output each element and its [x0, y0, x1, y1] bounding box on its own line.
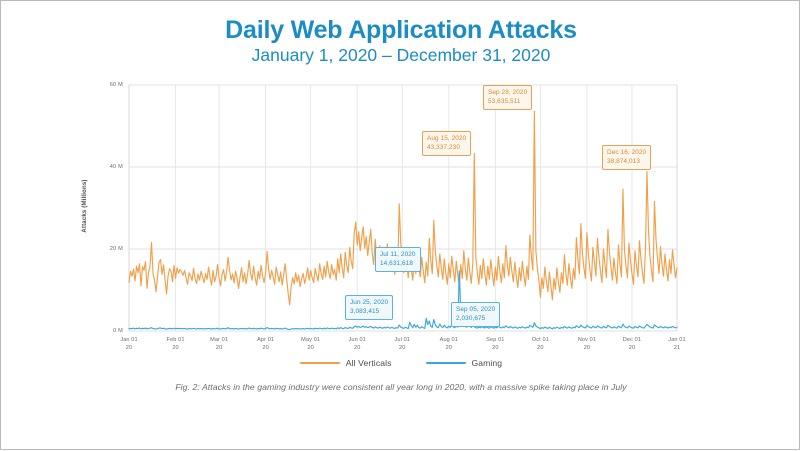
legend-swatch-icon: [426, 362, 466, 365]
x-tick-label: Sep 0120: [475, 336, 515, 352]
y-axis-title: Attacks (Millions): [82, 179, 88, 232]
x-tick-label: Jan 0120: [109, 336, 149, 352]
y-tick-label: 60 M: [97, 82, 123, 88]
x-tick-label: Apr 0120: [246, 336, 286, 352]
annotation-value: 53,635,511: [488, 97, 527, 106]
y-tick-label: 0 M: [97, 328, 123, 334]
annotation-callout-dec-16: Dec 16, 202038,874,013: [602, 145, 651, 170]
annotation-date: Jul 11, 2020: [380, 250, 416, 259]
annotation-date: Dec 16, 2020: [607, 148, 646, 157]
x-tick-label: May 0120: [291, 336, 331, 352]
figure-caption: Fig. 2: Attacks in the gaming industry w…: [1, 382, 800, 392]
gridlines: [129, 85, 677, 331]
annotation-callout-sep-05: Sep 05, 20202,030,675: [451, 302, 500, 327]
annotation-date: Aug 15, 2020: [427, 134, 466, 143]
legend-item-all-verticals[interactable]: All Verticals: [300, 358, 392, 368]
x-tick-label: Oct 0120: [520, 336, 560, 352]
y-tick-label: 40 M: [97, 164, 123, 170]
x-tick-label: Aug 0120: [429, 336, 469, 352]
x-tick-label: Dec 0120: [612, 336, 652, 352]
annotation-callout-sep-28: Sep 28, 202053,635,511: [483, 85, 532, 110]
annotation-date: Sep 28, 2020: [488, 88, 527, 97]
x-tick-label: Jun 0120: [337, 336, 377, 352]
x-tick-label: Mar 0120: [199, 336, 239, 352]
annotation-date: Sep 05, 2020: [456, 305, 495, 314]
annotation-value: 14,631,618: [380, 259, 416, 268]
x-tick-label: Nov 0120: [567, 336, 607, 352]
x-tick-label: Jan 0121: [657, 336, 697, 352]
y-tick-label: 20 M: [97, 246, 123, 252]
annotation-callout-aug-15: Aug 15, 202043,337,230: [422, 131, 471, 156]
annotation-value: 2,030,675: [456, 314, 495, 323]
x-tick-label: Feb 0120: [156, 336, 196, 352]
annotation-callout-jul-11: Jul 11, 202014,631,618: [375, 247, 421, 272]
legend-label: Gaming: [472, 358, 503, 368]
series-line-gaming: [129, 271, 677, 330]
annotation-value: 3,083,415: [350, 307, 388, 316]
chart-legend: All VerticalsGaming: [1, 358, 800, 368]
annotation-callout-jun-25: Jun 25, 20203,083,415: [345, 295, 393, 320]
series-lines: [129, 111, 677, 329]
annotation-date: Jun 25, 2020: [350, 298, 388, 307]
annotation-value: 38,874,013: [607, 157, 646, 166]
legend-item-gaming[interactable]: Gaming: [426, 358, 503, 368]
annotation-value: 43,337,230: [427, 143, 466, 152]
series-line-all-verticals: [129, 111, 677, 305]
chart-figure: Daily Web Application Attacks January 1,…: [0, 0, 800, 450]
legend-label: All Verticals: [346, 358, 392, 368]
x-tick-label: Jul 0120: [382, 336, 422, 352]
legend-swatch-icon: [300, 362, 340, 365]
